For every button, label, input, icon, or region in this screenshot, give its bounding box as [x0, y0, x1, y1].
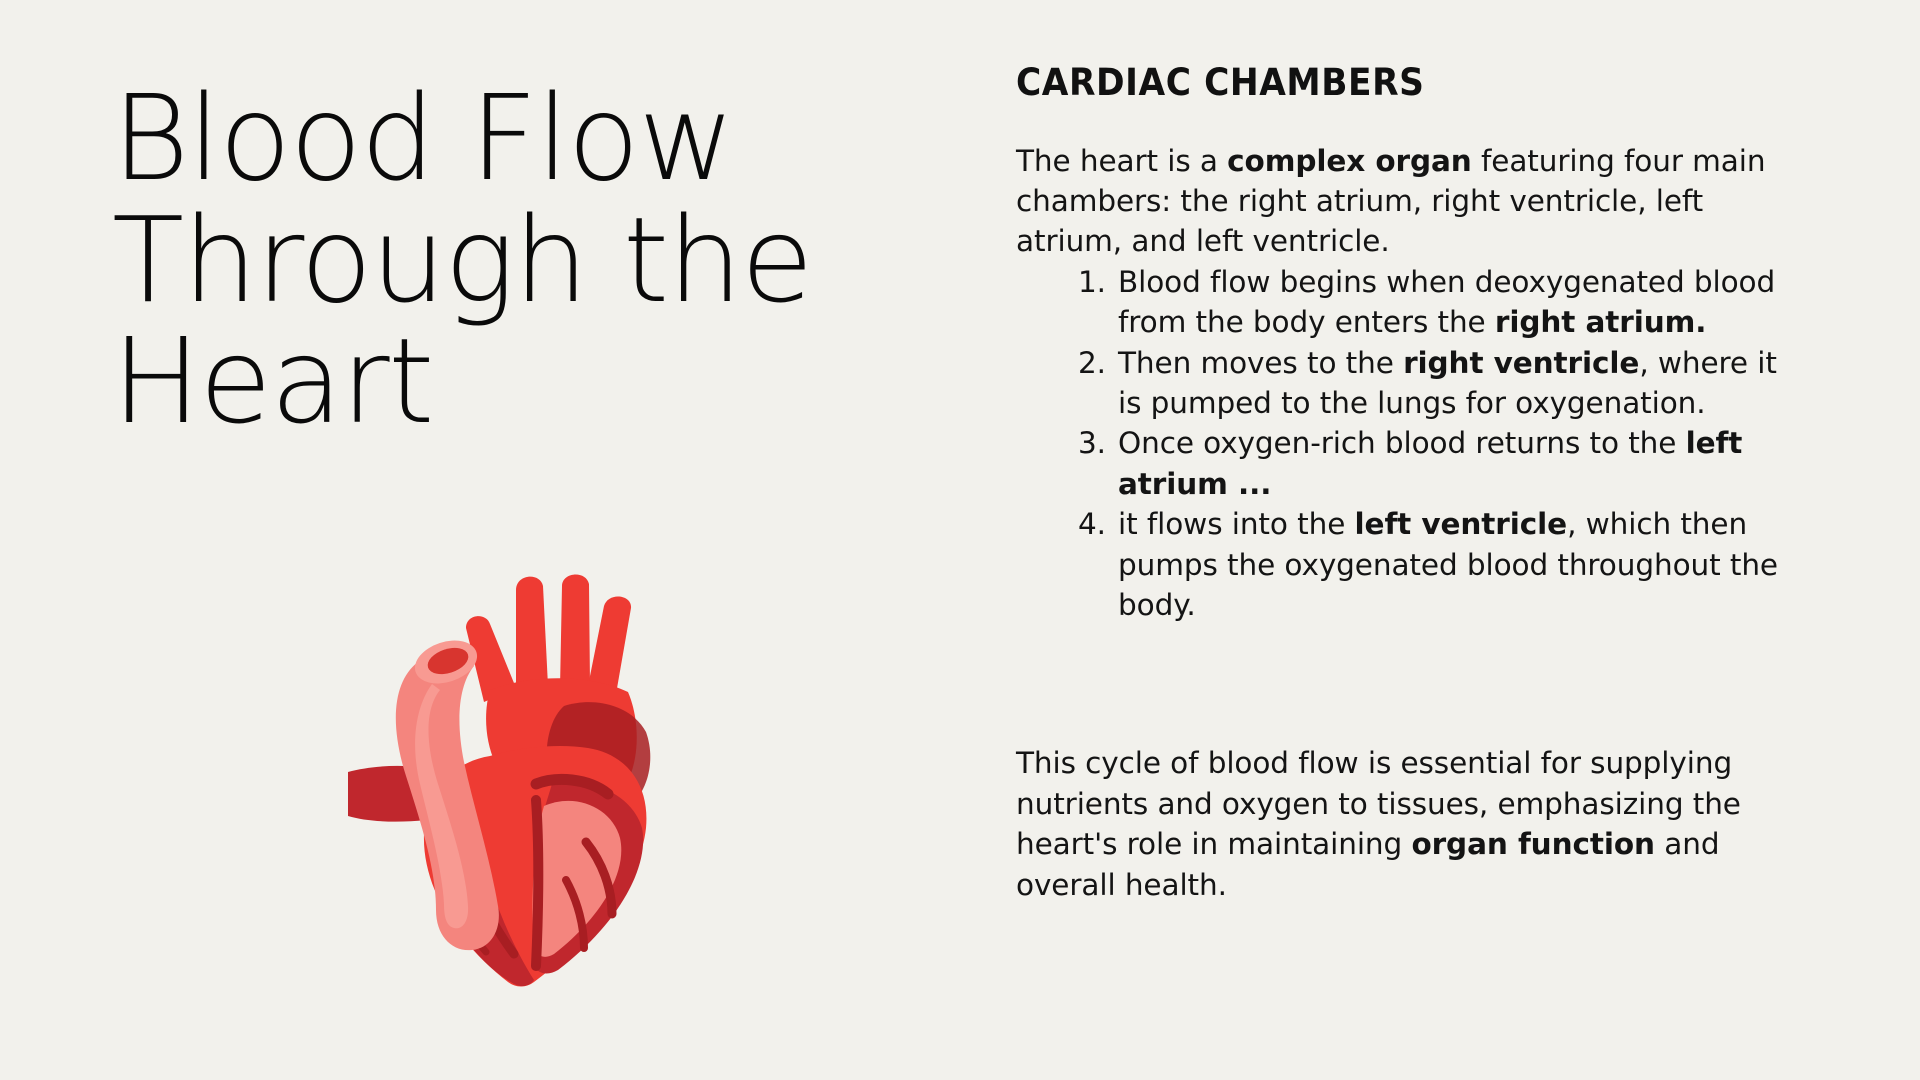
step-bold-4: left ventricle — [1355, 507, 1568, 541]
intro-paragraph: The heart is a complex organ featuring f… — [1016, 141, 1800, 262]
slide-root: Blood Flow Through the Heart — [0, 0, 1920, 1080]
step-text-4: it flows into the — [1118, 507, 1355, 541]
step-text-3: Once oxygen-rich blood returns to the — [1118, 426, 1686, 460]
blood-flow-steps-list: Blood flow begins when deoxygenated bloo… — [1016, 262, 1800, 626]
list-item: Once oxygen-rich blood returns to the le… — [1016, 423, 1800, 504]
intro-bold-1: complex organ — [1227, 144, 1472, 178]
step-bold-2: right ventricle — [1403, 346, 1639, 380]
list-item: Then moves to the right ventricle, where… — [1016, 343, 1800, 424]
intro-text-1: The heart is a — [1016, 144, 1227, 178]
section-heading: CARDIAC CHAMBERS — [1016, 62, 1745, 105]
page-title: Blood Flow Through the Heart — [112, 78, 852, 443]
anatomical-heart-illustration — [340, 570, 670, 1000]
body-text-block: The heart is a complex organ featuring f… — [1016, 141, 1800, 906]
list-item: it flows into the left ventricle, which … — [1016, 504, 1800, 625]
list-item: Blood flow begins when deoxygenated bloo… — [1016, 262, 1800, 343]
step-bold-1: right atrium. — [1495, 305, 1706, 339]
closing-bold-1: organ function — [1411, 827, 1655, 861]
step-text-2: Then moves to the — [1118, 346, 1403, 380]
left-column: Blood Flow Through the Heart — [0, 0, 960, 1080]
right-column: CARDIAC CHAMBERS The heart is a complex … — [960, 0, 1920, 1080]
closing-paragraph: This cycle of blood flow is essential fo… — [1016, 743, 1800, 905]
